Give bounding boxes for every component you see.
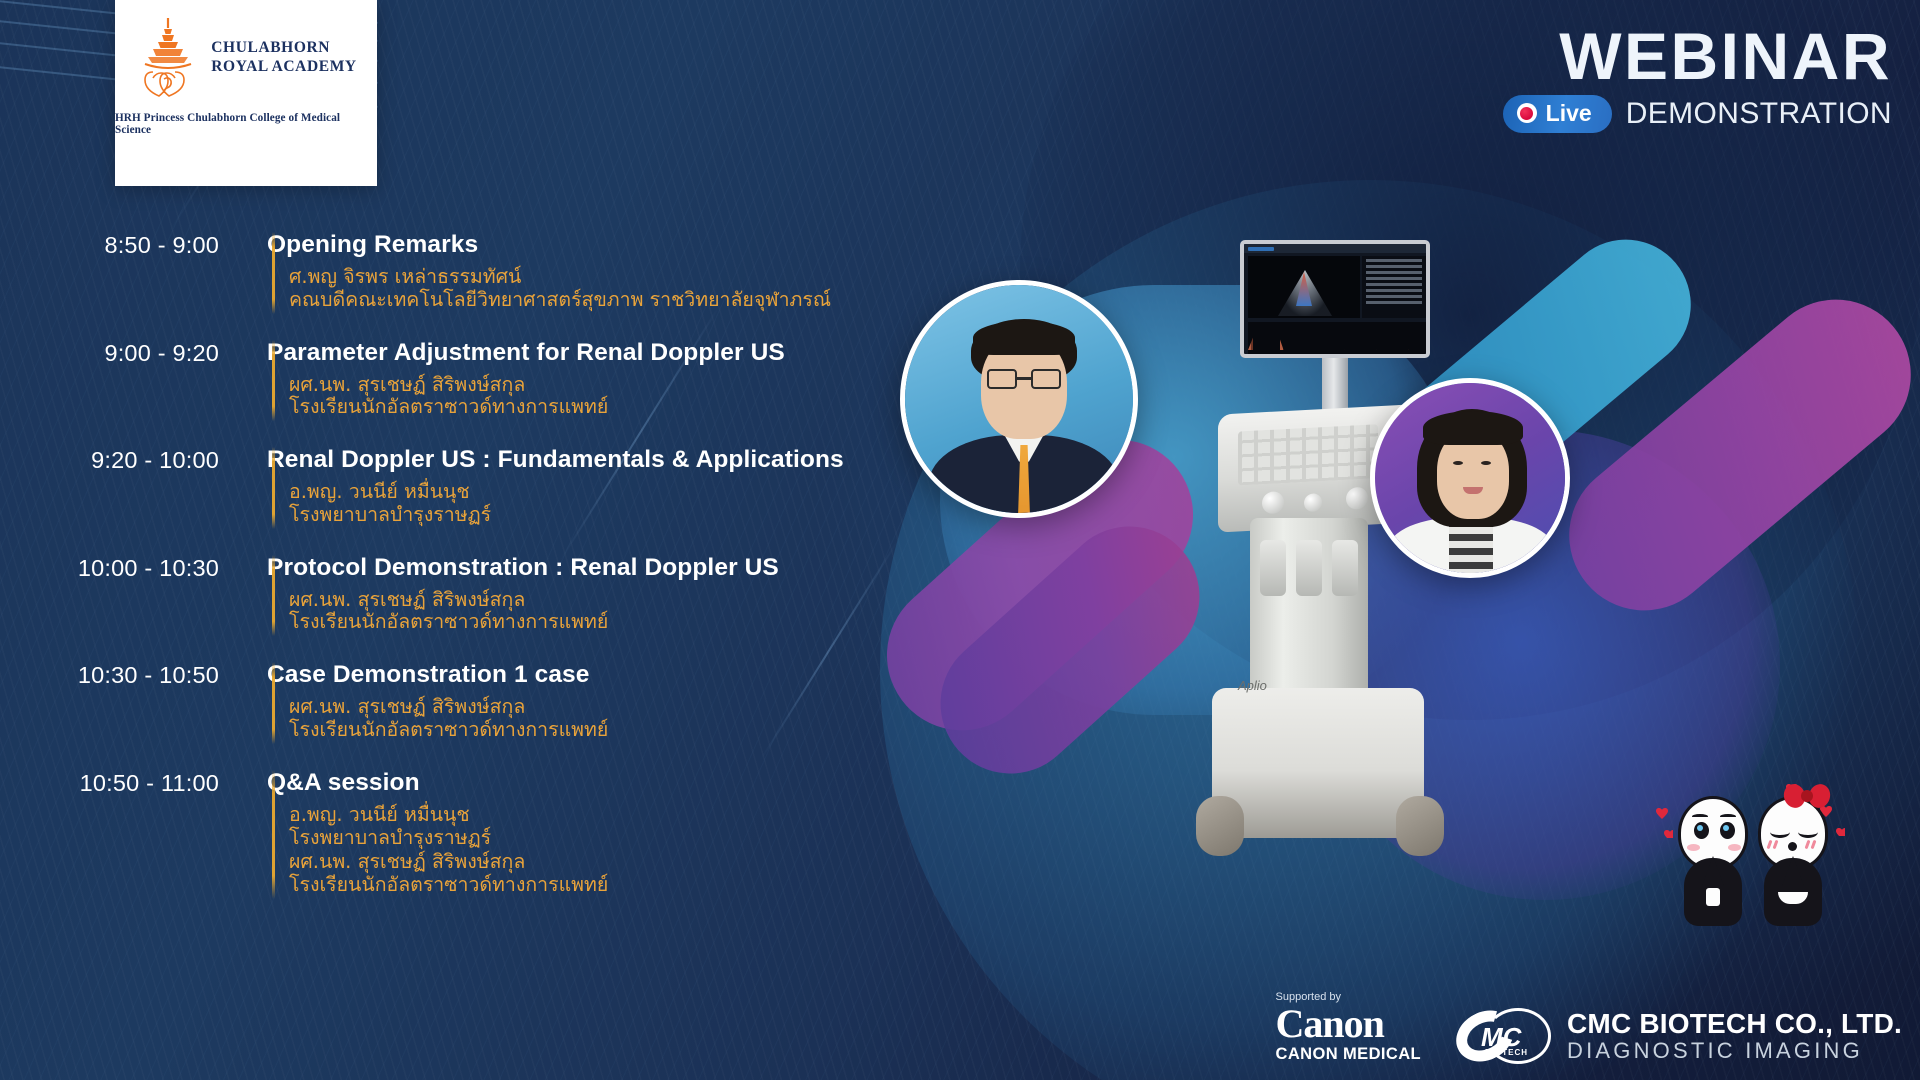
schedule-time: 10:50 - 11:00 bbox=[0, 770, 245, 899]
speaker-block: อ.พญ. วนนีย์ หมื่นนุชโรงพยาบาลบำรุงราษฏร… bbox=[289, 481, 844, 527]
speaker-photo-right bbox=[1370, 378, 1570, 578]
canon-wordmark: Canon bbox=[1276, 1005, 1421, 1043]
schedule-time: 10:30 - 10:50 bbox=[0, 662, 245, 744]
mascot-girl-eye-right bbox=[1798, 826, 1818, 838]
speaker-name: ผศ.นพ. สุรเชษฏ์ สิริพงษ์สกุล bbox=[289, 589, 779, 612]
schedule-speakers: อ.พญ. วนนีย์ หมื่นนุชโรงพยาบาลบำรุงราษฏร… bbox=[267, 481, 844, 527]
canon-medical-label: CANON MEDICAL bbox=[1276, 1045, 1421, 1064]
schedule-body: Case Demonstration 1 caseผศ.นพ. สุรเชษฏ์… bbox=[245, 662, 608, 744]
speaker-block: ผศ.นพ. สุรเชษฏ์ สิริพงษ์สกุลโรงเรียนนักอ… bbox=[289, 589, 779, 635]
mascot-boy-cheek-right bbox=[1728, 844, 1741, 851]
schedule-body: Parameter Adjustment for Renal Doppler U… bbox=[245, 340, 785, 422]
speaker-bangs bbox=[1423, 411, 1523, 445]
speaker-affiliation: โรงพยาบาลบำรุงราษฏร์ bbox=[289, 827, 608, 850]
speaker-name: ผศ.นพ. สุรเชษฏ์ สิริพงษ์สกุล bbox=[289, 696, 608, 719]
schedule-time: 8:50 - 9:00 bbox=[0, 232, 245, 314]
machine-brand-label: Aplio bbox=[1238, 678, 1267, 693]
schedule-title: Case Demonstration 1 case bbox=[267, 662, 608, 689]
speaker-block: ผศ.นพ. สุรเชษฏ์ สิริพงษ์สกุลโรงเรียนนักอ… bbox=[289, 851, 608, 897]
schedule-speakers: ผศ.นพ. สุรเชษฏ์ สิริพงษ์สกุลโรงเรียนนักอ… bbox=[267, 589, 779, 635]
mascot-boy-cheek-left bbox=[1687, 844, 1700, 851]
mascot-girl-bow-icon bbox=[1784, 784, 1830, 808]
schedule-row-gap bbox=[0, 421, 980, 447]
live-badge: Live bbox=[1503, 95, 1612, 133]
monitor-bmode-image bbox=[1248, 256, 1360, 318]
schedule-title: Renal Doppler US : Fundamentals & Applic… bbox=[267, 447, 844, 474]
schedule-divider bbox=[272, 232, 275, 314]
cmc-company-name: CMC BIOTECH CO., LTD. bbox=[1567, 1009, 1902, 1038]
speaker-block: ผศ.นพ. สุรเชษฏ์ สิริพงษ์สกุลโรงเรียนนักอ… bbox=[289, 374, 785, 420]
schedule-row: 10:50 - 11:00Q&A sessionอ.พญ. วนนีย์ หมื… bbox=[0, 770, 980, 899]
schedule-row-gap bbox=[0, 899, 980, 925]
transducer-probe bbox=[1296, 540, 1322, 596]
schedule-time: 9:20 - 10:00 bbox=[0, 447, 245, 529]
schedule-row: 10:00 - 10:30Protocol Demonstration : Re… bbox=[0, 555, 980, 637]
speaker-glasses-right-lens bbox=[1031, 369, 1061, 389]
schedule-title: Protocol Demonstration : Renal Doppler U… bbox=[267, 555, 779, 582]
schedule-list: 8:50 - 9:00Opening Remarksศ.พญ จิรพร เหล… bbox=[0, 232, 980, 925]
mascot-boy bbox=[1674, 796, 1752, 928]
transducer-probe bbox=[1332, 540, 1358, 596]
mascot-boy-eye-right bbox=[1720, 822, 1735, 839]
speaker-affiliation: โรงพยาบาลบำรุงราษฏร์ bbox=[289, 504, 844, 527]
cmc-text-block: CMC BIOTECH CO., LTD. DIAGNOSTIC IMAGING bbox=[1567, 1009, 1902, 1063]
console-knob bbox=[1262, 491, 1284, 514]
cmc-mark-icon: MC BIOTECH bbox=[1455, 1008, 1553, 1064]
schedule-row-gap bbox=[0, 314, 980, 340]
schedule-speakers: ศ.พญ จิรพร เหล่าธรรมทัศน์คณบดีคณะเทคโนโล… bbox=[267, 266, 831, 312]
speaker-name: ผศ.นพ. สุรเชษฏ์ สิริพงษ์สกุล bbox=[289, 851, 608, 874]
sponsor-bar: Supported by Canon CANON MEDICAL MC BIOT… bbox=[1276, 991, 1902, 1064]
mascot-girl bbox=[1754, 796, 1832, 928]
schedule-row-gap bbox=[0, 529, 980, 555]
schedule-row: 9:20 - 10:00Renal Doppler US : Fundament… bbox=[0, 447, 980, 529]
speaker-block: อ.พญ. วนนีย์ หมื่นนุชโรงพยาบาลบำรุงราษฏร… bbox=[289, 804, 608, 850]
schedule-row: 10:30 - 10:50Case Demonstration 1 caseผศ… bbox=[0, 662, 980, 744]
mascot-boy-brow-right bbox=[1720, 814, 1736, 819]
speaker-eye-right bbox=[1481, 461, 1491, 465]
cmc-tagline: DIAGNOSTIC IMAGING bbox=[1567, 1039, 1902, 1063]
canon-logo: Supported by Canon CANON MEDICAL bbox=[1276, 991, 1421, 1064]
schedule-time: 9:00 - 9:20 bbox=[0, 340, 245, 422]
console-knob bbox=[1346, 487, 1368, 510]
schedule-body: Opening Remarksศ.พญ จิรพร เหล่าธรรมทัศน์… bbox=[245, 232, 831, 314]
schedule-speakers: ผศ.นพ. สุรเชษฏ์ สิริพงษ์สกุลโรงเรียนนักอ… bbox=[267, 374, 785, 420]
demonstration-row: Live DEMONSTRATION bbox=[1503, 95, 1892, 133]
schedule-title: Q&A session bbox=[267, 770, 608, 797]
machine-caster-wheel bbox=[1196, 796, 1244, 856]
schedule-row-gap bbox=[0, 636, 980, 662]
speaker-glasses-left-lens bbox=[987, 369, 1017, 389]
transducer-probe bbox=[1260, 540, 1286, 596]
logo-wordmark: CHULABHORN ROYAL ACADEMY bbox=[211, 38, 356, 77]
mascot-boy-brow-left bbox=[1692, 814, 1708, 819]
schedule-row-gap bbox=[0, 744, 980, 770]
speaker-eye-left bbox=[1453, 461, 1463, 465]
chulabhorn-crown-heart-icon bbox=[135, 16, 201, 98]
speaker-affiliation: คณบดีคณะเทคโนโลยีวิทยาศาสตร์สุขภาพ ราชวิ… bbox=[289, 289, 831, 312]
machine-caster-wheel bbox=[1396, 796, 1444, 856]
doppler-waveform bbox=[1248, 328, 1426, 350]
speaker-glasses-bridge bbox=[1017, 377, 1031, 380]
speaker-name: ผศ.นพ. สุรเชษฏ์ สิริพงษ์สกุล bbox=[289, 374, 785, 397]
monitor-arm bbox=[1322, 358, 1348, 410]
schedule-speakers: อ.พญ. วนนีย์ หมื่นนุชโรงพยาบาลบำรุงราษฏร… bbox=[267, 804, 608, 897]
cmc-mark-sub: BIOTECH bbox=[1485, 1048, 1528, 1057]
live-record-dot-icon bbox=[1517, 103, 1537, 123]
schedule-title: Opening Remarks bbox=[267, 232, 831, 259]
logo-line-2: ROYAL ACADEMY bbox=[211, 57, 356, 76]
speaker-hair-front bbox=[973, 321, 1075, 355]
mascot-boy-eye-left bbox=[1694, 822, 1709, 839]
schedule-body: Q&A sessionอ.พญ. วนนีย์ หมื่นนุชโรงพยาบา… bbox=[245, 770, 608, 899]
logo-subtitle: HRH Princess Chulabhorn College of Medic… bbox=[115, 112, 377, 136]
heart-icon bbox=[1836, 828, 1845, 836]
speaker-block: ผศ.นพ. สุรเชษฏ์ สิริพงษ์สกุลโรงเรียนนักอ… bbox=[289, 696, 608, 742]
live-label: Live bbox=[1546, 100, 1592, 127]
schedule-divider bbox=[272, 662, 275, 744]
webinar-header: WEBINAR Live DEMONSTRATION bbox=[1503, 24, 1892, 133]
logo-row: CHULABHORN ROYAL ACADEMY bbox=[135, 16, 356, 98]
mascot-pair bbox=[1668, 778, 1858, 918]
schedule-divider bbox=[272, 555, 275, 637]
demonstration-label: DEMONSTRATION bbox=[1626, 97, 1892, 131]
schedule-title: Parameter Adjustment for Renal Doppler U… bbox=[267, 340, 785, 367]
schedule-divider bbox=[272, 340, 275, 422]
speaker-affiliation: โรงเรียนนักอัลตราซาวด์ทางการแพทย์ bbox=[289, 874, 608, 897]
ultrasound-monitor bbox=[1240, 240, 1430, 358]
schedule-divider bbox=[272, 770, 275, 899]
schedule-row: 9:00 - 9:20Parameter Adjustment for Rena… bbox=[0, 340, 980, 422]
mascot-boy-emblem bbox=[1706, 888, 1720, 906]
speaker-block: ศ.พญ จิรพร เหล่าธรรมทัศน์คณบดีคณะเทคโนโล… bbox=[289, 266, 831, 312]
mascot-girl-eye-left bbox=[1770, 826, 1790, 838]
schedule-time: 10:00 - 10:30 bbox=[0, 555, 245, 637]
speaker-affiliation: โรงเรียนนักอัลตราซาวด์ทางการแพทย์ bbox=[289, 611, 779, 634]
monitor-logo-bar bbox=[1244, 244, 1426, 253]
speaker-photo-left bbox=[900, 280, 1138, 518]
console-knob bbox=[1304, 493, 1322, 512]
schedule-body: Protocol Demonstration : Renal Doppler U… bbox=[245, 555, 779, 637]
schedule-divider bbox=[272, 447, 275, 529]
schedule-speakers: ผศ.นพ. สุรเชษฏ์ สิริพงษ์สกุลโรงเรียนนักอ… bbox=[267, 696, 608, 742]
schedule-body: Renal Doppler US : Fundamentals & Applic… bbox=[245, 447, 844, 529]
monitor-spectral-doppler bbox=[1248, 322, 1426, 354]
webinar-title: WEBINAR bbox=[1503, 24, 1892, 89]
schedule-row: 8:50 - 9:00Opening Remarksศ.พญ จิรพร เหล… bbox=[0, 232, 980, 314]
monitor-measurement-panel bbox=[1362, 256, 1426, 318]
chulabhorn-logo-card: CHULABHORN ROYAL ACADEMY HRH Princess Ch… bbox=[115, 0, 377, 186]
mascot-girl-mouth bbox=[1788, 842, 1797, 851]
speaker-affiliation: โรงเรียนนักอัลตราซาวด์ทางการแพทย์ bbox=[289, 396, 785, 419]
speaker-affiliation: โรงเรียนนักอัลตราซาวด์ทางการแพทย์ bbox=[289, 719, 608, 742]
cmc-biotech-logo: MC BIOTECH CMC BIOTECH CO., LTD. DIAGNOS… bbox=[1455, 1008, 1902, 1064]
speaker-name: อ.พญ. วนนีย์ หมื่นนุช bbox=[289, 481, 844, 504]
console-keyboard bbox=[1238, 424, 1378, 485]
logo-line-1: CHULABHORN bbox=[211, 38, 356, 57]
speaker-name: อ.พญ. วนนีย์ หมื่นนุช bbox=[289, 804, 608, 827]
speaker-name: ศ.พญ จิรพร เหล่าธรรมทัศน์ bbox=[289, 266, 831, 289]
